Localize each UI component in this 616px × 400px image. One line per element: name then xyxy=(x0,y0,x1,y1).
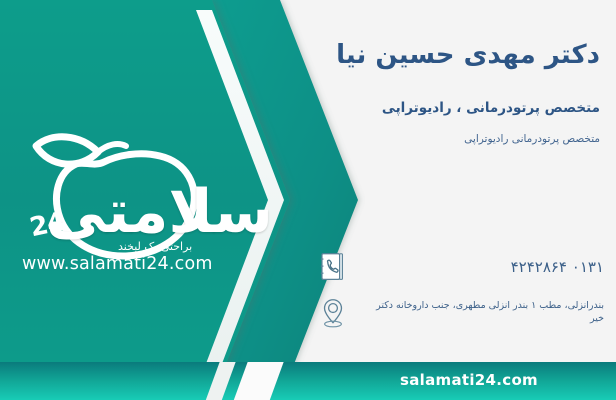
doctor-name: دکتر مهدی حسین نیا xyxy=(316,40,600,71)
card-content: دکتر مهدی حسین نیا متخصص پرتودرمانی ، را… xyxy=(300,0,616,400)
location-pin-icon xyxy=(316,294,350,332)
contact-row-phone: ۴۲۴۲۸۶۴ ۰۱۳۱ xyxy=(316,248,604,286)
footer-bar: salamati24.com xyxy=(0,362,616,400)
business-card: سلامتی 24 براحتی یک لبخند www.salamati24… xyxy=(0,0,616,400)
phone-number: ۴۲۴۲۸۶۴ ۰۱۳۱ xyxy=(360,258,604,276)
clinic-address: بندرانزلی، مطب ۱ بندر انزلی مطهری، جنب د… xyxy=(360,300,604,326)
contact-row-address: بندرانزلی، مطب ۱ بندر انزلی مطهری، جنب د… xyxy=(316,294,604,332)
doctor-specialty-primary: متخصص پرتودرمانی ، رادیوتراپی xyxy=(316,100,600,116)
doctor-specialty-secondary: متخصص پرتودرمانی رادیوتراپی xyxy=(316,133,600,145)
phone-book-icon xyxy=(316,248,350,286)
footer-slash-1 xyxy=(199,362,240,400)
footer-website: salamati24.com xyxy=(400,371,538,389)
footer-slash-2 xyxy=(227,362,288,400)
